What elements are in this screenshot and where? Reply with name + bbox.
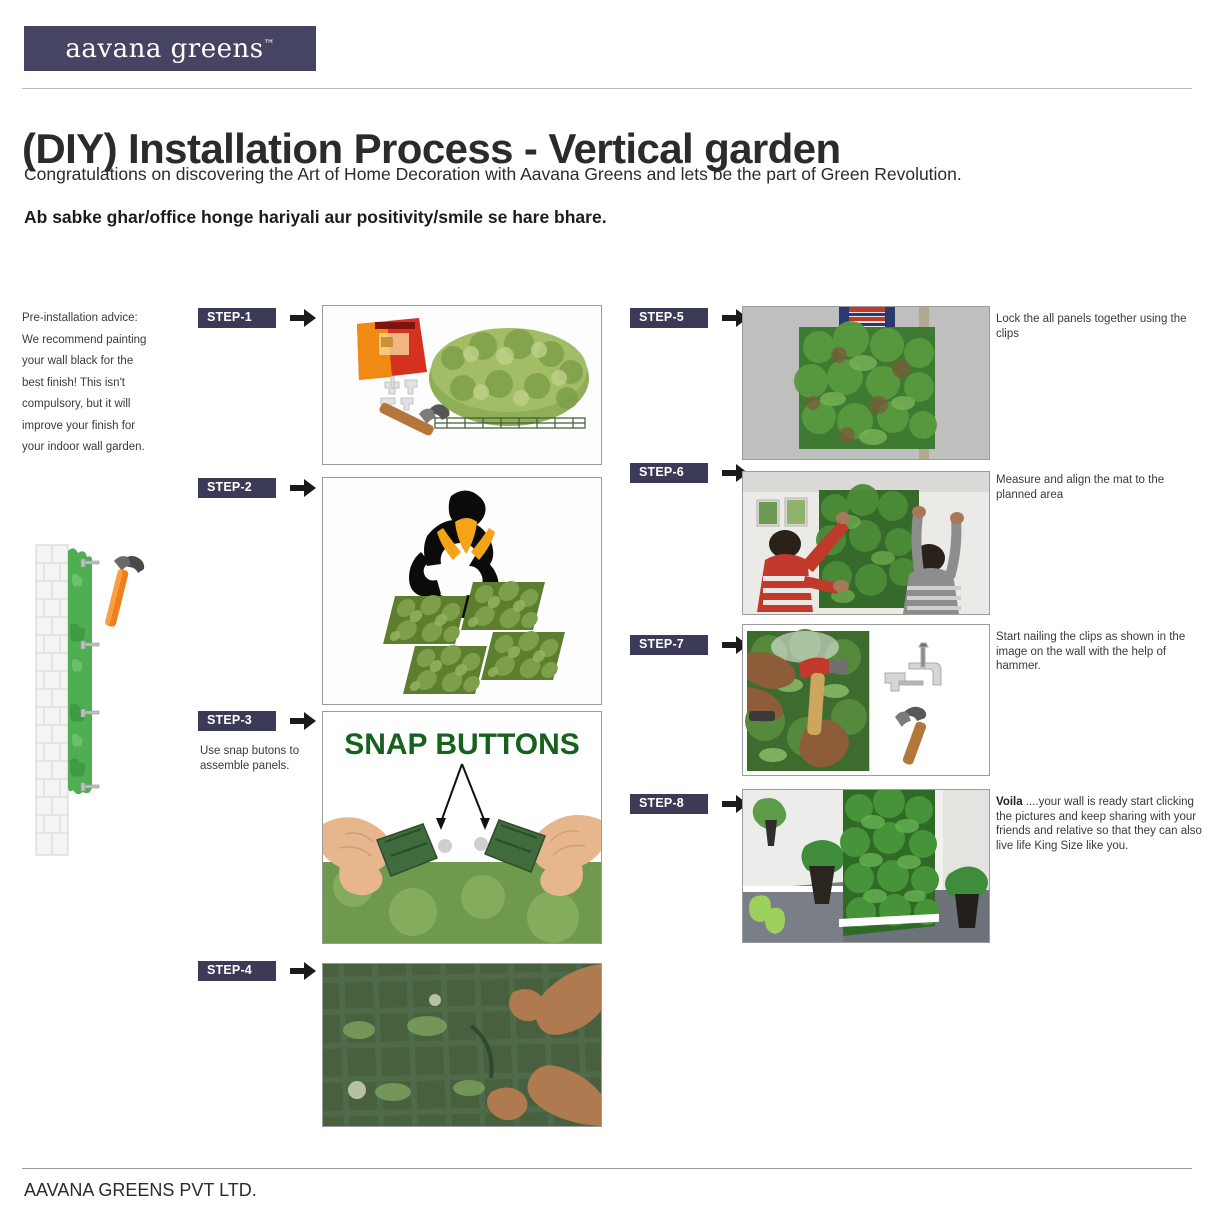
step-6-caption: Measure and align the mat to the planned… xyxy=(996,473,1201,502)
right-arrow-icon xyxy=(290,962,316,980)
step-8-caption-body: ....your wall is ready start clicking th… xyxy=(996,796,1202,852)
snap-buttons-illustration: SNAP BUTTONS xyxy=(323,712,601,943)
hammer-icon xyxy=(104,556,144,628)
footer-divider xyxy=(22,1168,1192,1169)
step-7-photo xyxy=(742,624,990,776)
snap-buttons-overlay-title: SNAP BUTTONS xyxy=(344,728,580,761)
step-4-photo xyxy=(322,963,602,1127)
step-2-badge: STEP-2 xyxy=(198,478,316,498)
step-5-badge: STEP-5 xyxy=(630,308,748,328)
wall-cross-section-illustration xyxy=(28,535,148,865)
aligning-mat-photo-illustration xyxy=(743,472,989,614)
page-subtitle: Congratulations on discovering the Art o… xyxy=(24,163,1194,187)
advice-line: your wall black for the xyxy=(22,351,192,373)
step-1-badge: STEP-1 xyxy=(198,308,316,328)
step-4-badge: STEP-4 xyxy=(198,961,316,981)
right-arrow-icon xyxy=(290,479,316,497)
step-1-photo xyxy=(322,305,602,465)
step-5-photo xyxy=(742,306,990,460)
step-6-photo xyxy=(742,471,990,615)
person-assembling-panels-illustration xyxy=(323,478,601,704)
step-6-badge: STEP-6 xyxy=(630,463,748,483)
brick-wall-with-hedge-and-hammer-icon xyxy=(28,535,148,865)
step-6-label: STEP-6 xyxy=(630,463,708,483)
poster-page: aavana greens™ (DIY) Installation Proces… xyxy=(0,0,1214,1214)
step-7-badge: STEP-7 xyxy=(630,635,748,655)
brand-logo: aavana greens™ xyxy=(24,26,316,71)
step-8-badge: STEP-8 xyxy=(630,794,748,814)
nailing-clips-photo-illustration xyxy=(743,625,989,775)
step-3-note: Use snap butons to assemble panels. xyxy=(200,744,320,773)
step-3-badge: STEP-3 xyxy=(198,711,316,731)
header-divider xyxy=(22,88,1192,89)
step-8-caption: Voila ....your wall is ready start click… xyxy=(996,795,1208,853)
advice-line: improve your finish for xyxy=(22,416,192,438)
step-8-caption-lead: Voila xyxy=(996,796,1023,808)
step-2-label: STEP-2 xyxy=(198,478,276,498)
step-7-caption: Start nailing the clips as shown in the … xyxy=(996,630,1208,674)
holding-panel-photo-illustration xyxy=(743,307,989,459)
right-arrow-icon xyxy=(290,309,316,327)
finished-green-wall-photo-illustration xyxy=(743,790,989,942)
step-8-photo xyxy=(742,789,990,943)
step-3-label: STEP-3 xyxy=(198,711,276,731)
advice-line: compulsory, but it will xyxy=(22,394,192,416)
footer-company-name: AAVANA GREENS PVT LTD. xyxy=(24,1180,257,1201)
step-4-label: STEP-4 xyxy=(198,961,276,981)
step-8-label: STEP-8 xyxy=(630,794,708,814)
advice-line: We recommend painting xyxy=(22,330,192,352)
step-2-photo xyxy=(322,477,602,705)
kit-contents-illustration xyxy=(323,306,601,464)
right-arrow-icon xyxy=(290,712,316,730)
step-5-label: STEP-5 xyxy=(630,308,708,328)
step-3-photo: SNAP BUTTONS xyxy=(322,711,602,944)
advice-line: your indoor wall garden. xyxy=(22,437,192,459)
step-1-label: STEP-1 xyxy=(198,308,276,328)
brand-logo-text: aavana greens™ xyxy=(65,34,274,64)
pre-installation-advice: Pre-installation advice: We recommend pa… xyxy=(22,308,192,459)
trademark-icon: ™ xyxy=(264,37,275,50)
step-7-label: STEP-7 xyxy=(630,635,708,655)
step-5-caption: Lock the all panels together using the c… xyxy=(996,312,1201,341)
hands-connecting-grid-illustration xyxy=(323,964,601,1126)
advice-line: best finish! This isn't xyxy=(22,373,192,395)
advice-line: Pre-installation advice: xyxy=(22,308,192,330)
page-tagline: Ab sabke ghar/office honge hariyali aur … xyxy=(24,207,1124,228)
